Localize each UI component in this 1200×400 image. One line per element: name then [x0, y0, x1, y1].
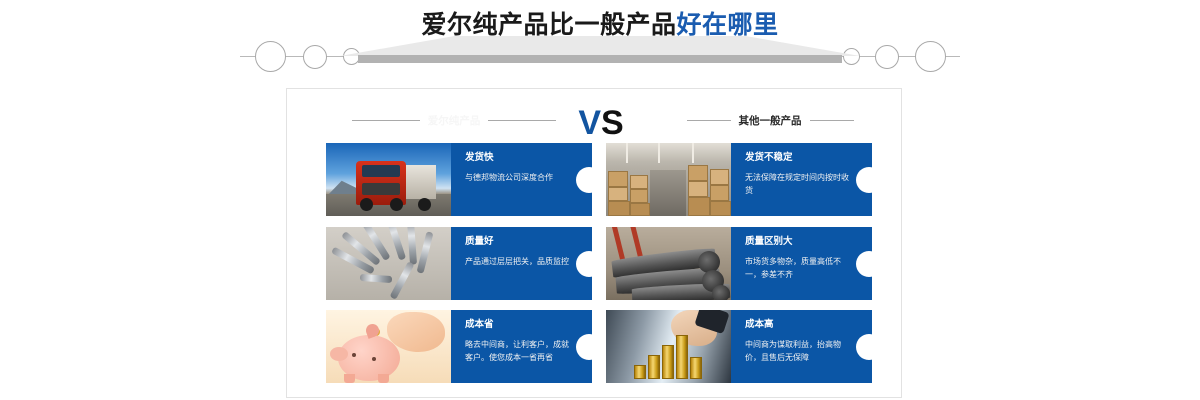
- card-others-quality[interactable]: 质量区别大 市场货多物杂，质量高低不一，参差不齐: [606, 227, 872, 300]
- column-heading-ours: 爱尔纯产品: [329, 113, 579, 128]
- card-others-delivery[interactable]: 发货不稳定 无法保障在规定时间内按时收货: [606, 143, 872, 216]
- card-title: 质量好: [465, 236, 570, 248]
- hand-stacking-gold-coins-photo: [606, 310, 731, 383]
- card-notch-shape: [856, 251, 872, 277]
- card-notch-shape: [576, 167, 592, 193]
- hand-dropping-coin-into-piggy-bank-photo: [326, 310, 451, 383]
- platform-base-bar: [358, 55, 842, 63]
- card-notch-shape: [576, 251, 592, 277]
- column-heading-others-label: 其他一般产品: [739, 113, 802, 128]
- cards-column-ours: 发货快 与德邦物流公司深度合作: [326, 143, 592, 393]
- red-truck-on-highway-photo: [326, 143, 451, 216]
- card-title: 发货快: [465, 152, 570, 164]
- card-title: 发货不稳定: [745, 152, 850, 164]
- card-description: 产品通过层层把关，品质监控: [465, 255, 570, 268]
- card-description: 略去中间商，让利客户，成就客户。使您成本一省再省: [465, 338, 570, 364]
- heading-rule-right: [810, 120, 854, 121]
- card-text-block: 质量区别大 市场货多物杂，质量高低不一，参差不齐: [731, 227, 872, 300]
- heading-rule-right: [488, 120, 556, 121]
- card-description: 市场货多物杂，质量高低不一，参差不齐: [745, 255, 850, 281]
- column-headings: 爱尔纯产品 VS 其他一般产品: [287, 103, 903, 139]
- decor-medium-circle-right: [875, 45, 899, 69]
- cards-column-others: 发货不稳定 无法保障在规定时间内按时收货: [606, 143, 872, 393]
- decor-large-circle-right: [915, 41, 946, 72]
- card-notch-shape: [856, 167, 872, 193]
- card-text-block: 质量好 产品通过层层把关，品质监控: [451, 227, 592, 300]
- card-ours-quality[interactable]: 质量好 产品通过层层把关，品质监控: [326, 227, 592, 300]
- comparison-panel: 爱尔纯产品 VS 其他一般产品: [286, 88, 902, 398]
- page-title-blue-part: 好在哪里: [677, 11, 779, 39]
- card-ours-delivery[interactable]: 发货快 与德邦物流公司深度合作: [326, 143, 592, 216]
- metal-filter-cartridges-photo: [326, 227, 451, 300]
- page-header: 爱尔纯产品比一般产品好在哪里: [0, 0, 1200, 85]
- column-heading-others: 其他一般产品: [665, 113, 875, 128]
- vs-letter-v: V: [578, 104, 601, 142]
- column-heading-ours-label: 爱尔纯产品: [428, 113, 481, 128]
- cards-grid: 发货快 与德邦物流公司深度合作: [287, 143, 903, 393]
- stacked-grey-pipes-photo: [606, 227, 731, 300]
- card-description: 中间商为谋取利益，抬高物价，且售后无保障: [745, 338, 850, 364]
- page-title-dark-part: 爱尔纯产品比一般产品: [421, 11, 676, 39]
- card-description: 无法保障在规定时间内按时收货: [745, 171, 850, 197]
- decor-large-circle-left: [255, 41, 286, 72]
- vs-badge: VS: [561, 105, 641, 141]
- card-title: 质量区别大: [745, 236, 850, 248]
- card-text-block: 成本省 略去中间商，让利客户，成就客户。使您成本一省再省: [451, 310, 592, 383]
- card-text-block: 发货快 与德邦物流公司深度合作: [451, 143, 592, 216]
- page-title: 爱尔纯产品比一般产品好在哪里: [0, 10, 1200, 40]
- card-text-block: 成本高 中间商为谋取利益，抬高物价，且售后无保障: [731, 310, 872, 383]
- card-notch-shape: [856, 334, 872, 360]
- card-title: 成本高: [745, 319, 850, 331]
- card-ours-cost[interactable]: 成本省 略去中间商，让利客户，成就客户。使您成本一省再省: [326, 310, 592, 383]
- vs-letter-s: S: [601, 104, 624, 142]
- decor-medium-circle-left: [303, 45, 327, 69]
- card-title: 成本省: [465, 319, 570, 331]
- warehouse-stacked-cartons-photo: [606, 143, 731, 216]
- heading-rule-left: [687, 120, 731, 121]
- card-others-cost[interactable]: 成本高 中间商为谋取利益，抬高物价，且售后无保障: [606, 310, 872, 383]
- heading-rule-left: [352, 120, 420, 121]
- card-description: 与德邦物流公司深度合作: [465, 171, 570, 184]
- card-text-block: 发货不稳定 无法保障在规定时间内按时收货: [731, 143, 872, 216]
- card-notch-shape: [576, 334, 592, 360]
- title-platform-shape: [340, 36, 860, 64]
